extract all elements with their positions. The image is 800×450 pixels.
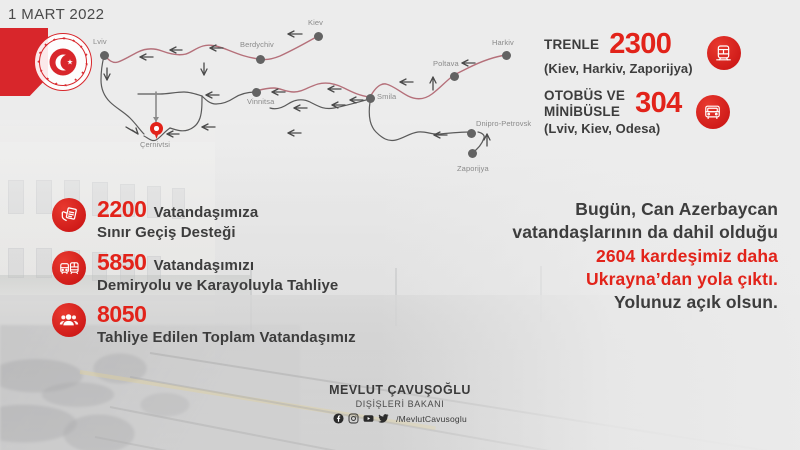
support-stat-number: 2200	[97, 196, 147, 223]
support-stat-total: 8050 Tahliye Edilen Toplam Vatandaşımız	[52, 301, 356, 346]
message-line-3: 2604 kardeşimiz daha	[448, 245, 778, 268]
map-label-zaporijya: Zaporijya	[457, 164, 489, 173]
minister-name: MEVLUT ÇAVUŞOĞLU	[0, 383, 800, 397]
social-links[interactable]: /MevlutCavusoglu	[0, 413, 800, 424]
map-label-smila: Smila	[377, 92, 396, 101]
message-line-5: Yolunuz açık olsun.	[448, 291, 778, 314]
stat-train-value: 2300	[609, 30, 671, 59]
stat-train-cities: (Kiev, Harkiv, Zaporijya)	[544, 61, 693, 76]
support-stat-border-crossing: 2200 Vatandaşımıza Sınır Geçiş Desteği	[52, 196, 258, 241]
support-stat-number: 5850	[97, 249, 147, 276]
map-label-berdychiv: Berdychiv	[240, 40, 274, 49]
footer: MEVLUT ÇAVUŞOĞLU DIŞİŞLERİ BAKANI /Mevlu…	[0, 383, 800, 424]
stat-bus-value: 304	[635, 89, 682, 118]
city-dot	[467, 129, 476, 138]
twitter-icon[interactable]	[378, 413, 389, 424]
turkish-mfa-emblem	[34, 33, 92, 91]
message-block: Bugün, Can Azerbaycan vatandaşlarının da…	[448, 198, 778, 314]
stat-bus-cities: (Lviv, Kiev, Odesa)	[544, 121, 682, 136]
map-label-poltava: Poltava	[433, 59, 459, 68]
city-dot	[450, 72, 459, 81]
map-label-dnipro-petrovsk: Dnipro-Petrovsk	[476, 119, 531, 128]
message-line-1: Bugün, Can Azerbaycan	[448, 198, 778, 221]
support-stat-line1: Vatandaşımıza	[154, 204, 259, 221]
map-label-harkiv: Harkiv	[492, 38, 514, 47]
destination-pin-cernivtsi	[150, 122, 163, 139]
city-dot	[314, 32, 323, 41]
crescent-star-icon	[50, 49, 77, 76]
city-dot	[366, 94, 375, 103]
support-stat-number: 8050	[97, 301, 147, 328]
youtube-icon[interactable]	[363, 413, 374, 424]
message-line-3-rest: kardeşimiz daha	[635, 246, 778, 266]
support-stat-line2: Tahliye Edilen Toplam Vatandaşımız	[97, 329, 356, 346]
map-label-cernivtsi: Çernivtsi	[140, 140, 170, 149]
city-dot	[100, 51, 109, 60]
message-line-2: vatandaşlarının da dahil olduğu	[448, 221, 778, 244]
border-crossing-icon	[52, 198, 86, 232]
stat-train-label: TRENLE	[544, 37, 599, 53]
support-stat-evacuation: 5850 Vatandaşımızı Demiryolu ve Karayolu…	[52, 249, 338, 294]
people-group-icon	[52, 303, 86, 337]
support-stat-line2: Demiryolu ve Karayoluyla Tahliye	[97, 277, 338, 294]
instagram-icon[interactable]	[348, 413, 359, 424]
map-label-lviv: Lviv	[93, 37, 107, 46]
social-handle[interactable]: /MevlutCavusoglu	[396, 414, 467, 424]
message-highlight-number: 2604	[596, 246, 635, 266]
support-stat-line2: Sınır Geçiş Desteği	[97, 224, 258, 241]
city-dot	[256, 55, 265, 64]
bus-icon	[696, 95, 730, 129]
support-stat-line1: Vatandaşımızı	[154, 257, 255, 274]
facebook-icon[interactable]	[333, 413, 344, 424]
stat-bus-label: OTOBÜS VE MİNİBÜSLE	[544, 88, 625, 119]
city-dot	[502, 51, 511, 60]
train-icon	[707, 36, 741, 70]
infographic-canvas: 1 MART 2022	[0, 0, 800, 450]
map-label-vinnitsa: Vinnitsa	[247, 97, 274, 106]
bus-and-train-icon	[52, 251, 86, 285]
stat-bus: OTOBÜS VE MİNİBÜSLE 304 (Lviv, Kiev, Ode…	[544, 88, 730, 136]
stat-train: TRENLE 2300 (Kiev, Harkiv, Zaporijya)	[544, 30, 741, 76]
message-line-4: Ukrayna’dan yola çıktı.	[448, 268, 778, 291]
minister-title: DIŞİŞLERİ BAKANI	[0, 399, 800, 409]
ukraine-evacuation-route-map: Lviv Kiev Berdychiv Vinnitsa Smila Polta…	[88, 4, 528, 194]
city-dot	[252, 88, 261, 97]
map-label-kiev: Kiev	[308, 18, 323, 27]
city-dot	[468, 149, 477, 158]
